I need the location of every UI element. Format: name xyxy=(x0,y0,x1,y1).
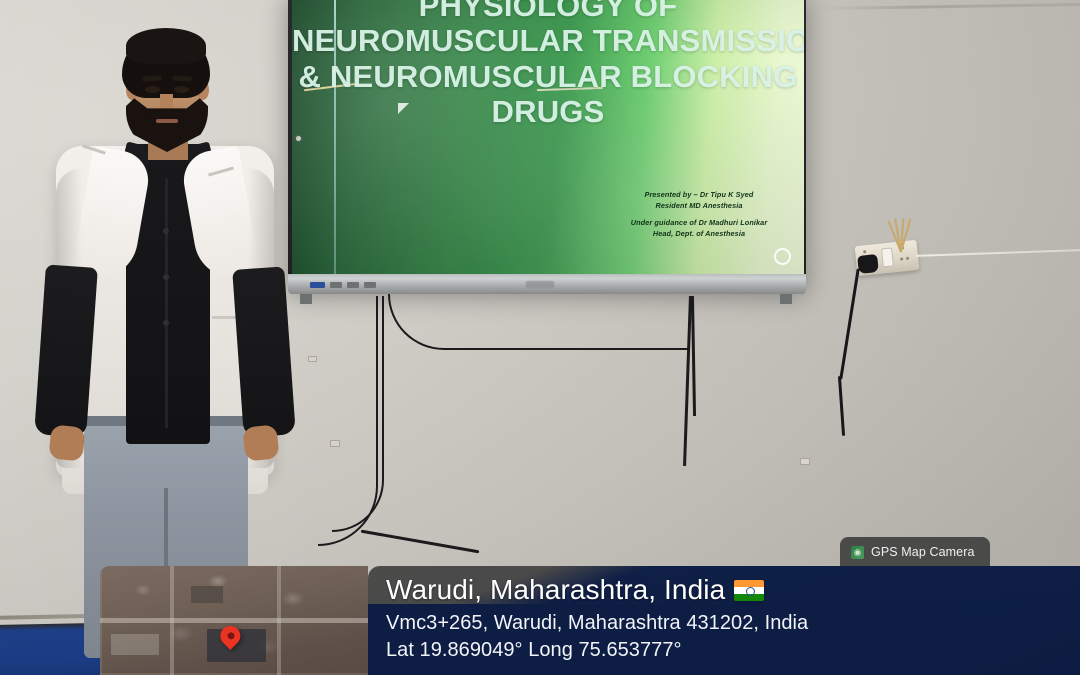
socket-screw-top xyxy=(863,250,866,253)
slide-presented-by: Presented by – Dr Tipu K Syed xyxy=(644,190,753,199)
cable-clip-2 xyxy=(308,356,317,362)
shirt-button-2 xyxy=(163,274,169,280)
slide-guide-role: Head, Dept. of Anesthesia xyxy=(653,229,745,238)
slide-title-line-4: DRUGS xyxy=(292,94,804,129)
power-plug xyxy=(857,254,879,274)
slide-title-line-2: NEUROMUSCULAR TRANSMISSION xyxy=(292,23,804,58)
gps-text-block: Warudi, Maharashtra, India Vmc3+265, War… xyxy=(386,574,1066,663)
loose-wires xyxy=(900,218,940,258)
shirt-button-3 xyxy=(163,320,169,326)
cable-clip-3 xyxy=(800,458,810,465)
gps-badge-label: GPS Map Camera xyxy=(871,545,975,559)
slide-presenter-role: Resident MD Anesthesia xyxy=(655,201,742,210)
gps-coordinates: Lat 19.869049° Long 75.653777° xyxy=(386,637,1066,663)
cable-clip-1 xyxy=(330,440,340,447)
india-flag-icon xyxy=(734,580,764,601)
map-road-horizontal xyxy=(100,618,368,623)
hair-top xyxy=(126,28,206,64)
display-cable-3 xyxy=(388,294,688,350)
display-screen[interactable]: PHYSIOLOGY OF NEUROMUSCULAR TRANSMISSION… xyxy=(292,0,804,274)
map-building-3 xyxy=(111,634,159,656)
presenter-figure xyxy=(22,18,294,618)
display-port-aux xyxy=(364,282,376,288)
slide-circle-mark xyxy=(774,248,791,265)
gps-map-thumbnail[interactable] xyxy=(100,566,368,675)
display-port-hdmi-1 xyxy=(330,282,342,288)
gps-map-camera-badge[interactable]: ◉ GPS Map Camera xyxy=(840,537,990,567)
display-cable-2 xyxy=(332,296,384,532)
gps-map-camera-app-icon: ◉ xyxy=(851,546,864,559)
slide-title: PHYSIOLOGY OF NEUROMUSCULAR TRANSMISSION… xyxy=(292,0,804,129)
gps-location-title-row: Warudi, Maharashtra, India xyxy=(386,574,1066,606)
cursor-triangle-icon xyxy=(398,103,409,114)
display-mount-left xyxy=(300,294,312,304)
lips xyxy=(156,119,178,123)
shirt-button-1 xyxy=(163,228,169,234)
eye-left xyxy=(145,86,160,93)
screenshot-stage: PHYSIOLOGY OF NEUROMUSCULAR TRANSMISSION… xyxy=(0,0,1080,675)
display-port-hdmi-2 xyxy=(347,282,359,288)
display-side-indicator xyxy=(296,136,301,141)
slide-credits: Presented by – Dr Tipu K Syed Resident M… xyxy=(604,190,794,239)
gps-info-card: Warudi, Maharashtra, India Vmc3+265, War… xyxy=(368,566,1080,675)
display-ports xyxy=(310,281,410,289)
slide-title-line-3: & NEUROMUSCULAR BLOCKING xyxy=(292,59,804,94)
slide-guidance: Under guidance of Dr Madhuri Lonikar xyxy=(631,218,768,227)
gps-address: Vmc3+265, Warudi, Maharashtra 431202, In… xyxy=(386,610,1066,636)
display-port-usb xyxy=(310,282,325,288)
hand-right xyxy=(242,424,279,461)
eye-right xyxy=(174,86,189,93)
map-building-2 xyxy=(191,586,223,603)
socket-switch xyxy=(881,247,894,267)
hand-left xyxy=(48,424,85,461)
gps-location-title: Warudi, Maharashtra, India xyxy=(386,574,725,606)
mustache xyxy=(150,110,184,119)
display-brand-logo xyxy=(526,281,554,288)
shirt-placket xyxy=(165,178,168,428)
slide-title-line-1: PHYSIOLOGY OF xyxy=(292,0,804,23)
display-mount-right xyxy=(780,294,792,304)
sleeve-right xyxy=(232,266,296,437)
